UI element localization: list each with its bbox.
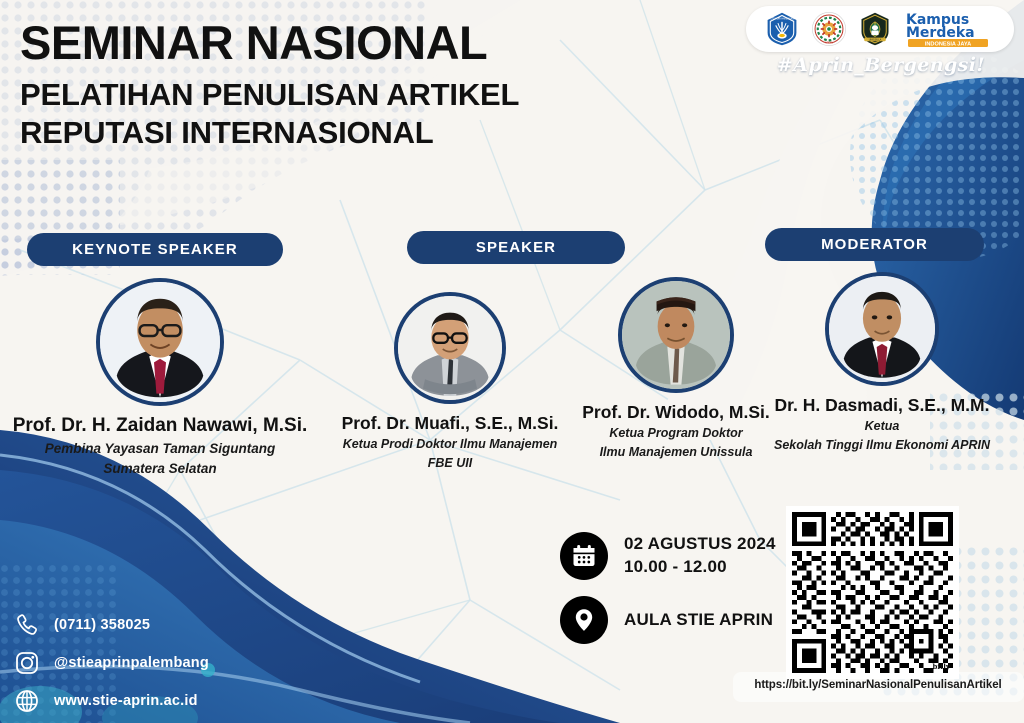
instagram-icon — [14, 650, 40, 676]
globe-icon — [14, 688, 40, 714]
event-details: 02 AGUSTUS 2024 10.00 - 12.00 AULA STIE … — [560, 532, 776, 660]
person-card-moderator: Dr. H. Dasmadi, S.E., M.M. Ketua Sekolah… — [740, 272, 1024, 453]
event-venue: AULA STIE APRIN — [624, 609, 773, 632]
event-venue-row: AULA STIE APRIN — [560, 596, 776, 644]
unissula-logo: UNISSULA — [857, 11, 893, 47]
portrait-zaidan-nawawi — [100, 282, 220, 402]
portrait-dasmadi — [829, 276, 935, 382]
event-time: 10.00 - 12.00 — [624, 556, 776, 579]
contact-website-value: www.stie-aprin.ac.id — [54, 693, 198, 709]
location-pin-icon — [560, 596, 608, 644]
svg-text:APRIN: APRIN — [825, 40, 833, 44]
person-name: Dr. H. Dasmadi, S.E., M.M. — [740, 395, 1024, 415]
contact-list: (0711) 358025 @stieaprinpalembang www. — [14, 612, 209, 723]
phone-icon — [14, 612, 40, 638]
registration-url[interactable]: https://bit.ly/SeminarNasionalPenulisanA… — [733, 679, 1023, 691]
event-date-row: 02 AGUSTUS 2024 10.00 - 12.00 — [560, 532, 776, 580]
event-date: 02 AGUSTUS 2024 — [624, 533, 776, 556]
role-badge-speaker: SPEAKER — [407, 231, 625, 264]
contact-website[interactable]: www.stie-aprin.ac.id — [14, 688, 209, 714]
person-role-line-1: Ketua — [740, 418, 1024, 434]
avatar — [96, 278, 224, 406]
tut-wuri-handayani-logo: TUT WURI HANDAYANI — [764, 11, 800, 47]
person-role-line-1: Pembina Yayasan Taman Siguntang — [0, 440, 320, 457]
svg-text:TUT WURI HANDAYANI: TUT WURI HANDAYANI — [770, 18, 796, 21]
role-badge-keynote-speaker: KEYNOTE SPEAKER — [27, 233, 283, 266]
person-card-keynote-speaker: Prof. Dr. H. Zaidan Nawawi, M.Si. Pembin… — [0, 278, 320, 477]
title-subline-2: REPUTASI INTERNASIONAL — [20, 114, 519, 152]
title-subline-1: PELATIHAN PENULISAN ARTIKEL — [20, 76, 519, 114]
calendar-icon — [560, 532, 608, 580]
avatar — [825, 272, 939, 386]
portrait-widodo — [622, 281, 730, 389]
person-role-line-2: Sekolah Tinggi Ilmu Ekonomi APRIN — [740, 437, 1024, 453]
avatar — [618, 277, 734, 393]
hashtag-text: #Aprin_Bergengsi! — [752, 54, 1010, 76]
kampus-merdeka-line2: Merdeka — [906, 25, 975, 41]
person-name: Prof. Dr. H. Zaidan Nawawi, M.Si. — [0, 415, 320, 437]
contact-instagram-value: @stieaprinpalembang — [54, 655, 209, 671]
partner-logo-pill: TUT WURI HANDAYANI — [746, 6, 1014, 52]
kampus-merdeka-logo: Kampus Merdeka INDONESIA JAYA — [904, 10, 996, 48]
svg-text:UNISSULA: UNISSULA — [869, 38, 882, 41]
event-date-text: 02 AGUSTUS 2024 10.00 - 12.00 — [624, 533, 776, 579]
contact-phone[interactable]: (0711) 358025 — [14, 612, 209, 638]
registration-qr-code[interactable]: bitly — [786, 506, 959, 679]
page-title: SEMINAR NASIONAL — [20, 18, 519, 68]
bitly-label: bitly — [932, 662, 950, 671]
kampus-merdeka-tagline: INDONESIA JAYA — [924, 41, 970, 47]
title-block: SEMINAR NASIONAL PELATIHAN PENULISAN ART… — [20, 18, 519, 151]
contact-phone-value: (0711) 358025 — [54, 617, 150, 633]
aprin-seal-logo: APRIN — [811, 11, 847, 47]
qr-code-graphic[interactable] — [792, 512, 953, 673]
portrait-muafi — [398, 296, 502, 400]
person-role-line-2: Sumatera Selatan — [0, 460, 320, 477]
contact-instagram[interactable]: @stieaprinpalembang — [14, 650, 209, 676]
role-badge-moderator: MODERATOR — [765, 228, 984, 261]
avatar — [394, 292, 506, 404]
seminar-poster: TUT WURI HANDAYANI — [0, 0, 1024, 723]
